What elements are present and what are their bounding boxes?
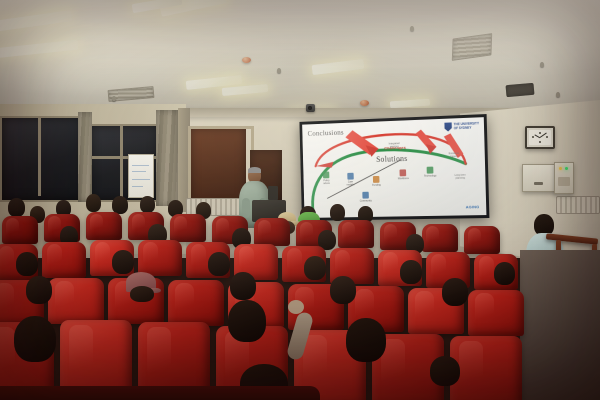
attendee-head (400, 260, 422, 284)
auditorium-seat[interactable] (422, 224, 458, 252)
attendee-head (304, 256, 326, 280)
mini-item-label: Technology (424, 174, 436, 177)
attendee-head (130, 286, 154, 302)
auditorium-seat[interactable] (86, 212, 122, 240)
projection-screen: Conclusions THE UNIVERSITY OF SYDNEY (299, 114, 489, 221)
slide-note: Long term planning (447, 173, 474, 180)
attendee-arm (286, 311, 315, 362)
status-led-green (565, 167, 568, 170)
aisle-floor (520, 250, 600, 400)
lecture-hall-scene: Conclusions THE UNIVERSITY OF SYDNEY (0, 0, 600, 400)
slide-mini-item: Workforce (398, 169, 409, 180)
attendee-head (26, 276, 52, 304)
slide-mini-item: Technology (424, 166, 437, 177)
red-arrow-left (316, 162, 334, 168)
whiteboard-line (132, 171, 146, 172)
ceiling-shading (0, 0, 600, 118)
mini-icon (400, 169, 407, 176)
auditorium-seat[interactable] (42, 242, 86, 278)
slide-note: Integrated services (380, 142, 408, 149)
ceiling-camera-icon (306, 104, 315, 112)
mini-icon (427, 167, 434, 174)
attendee-head (16, 252, 38, 276)
attendee-head (494, 262, 515, 285)
auditorium-seat[interactable] (168, 280, 224, 326)
wall-clock (525, 126, 555, 149)
electrical-control-panel (522, 164, 556, 192)
whiteboard-line (132, 179, 150, 180)
slide-mini-item: Funding (372, 176, 381, 187)
attendee-head (86, 194, 101, 212)
slide-mini-item: Policy reform (323, 171, 330, 185)
auditorium-seat[interactable] (468, 290, 524, 336)
window-mullion (38, 118, 41, 196)
attendee-red-cap (126, 272, 166, 306)
mini-item-label: Community (360, 199, 372, 202)
auditorium-seat[interactable] (450, 336, 522, 400)
auditorium-seat[interactable] (48, 278, 104, 324)
slide-arc-diagram (302, 117, 486, 218)
attendee-raising-hand (272, 300, 330, 360)
projected-slide: Conclusions THE UNIVERSITY OF SYDNEY (302, 117, 486, 218)
slide-solutions-label: Solutions (376, 154, 408, 164)
attendee-head (330, 276, 356, 304)
clock-tick (539, 132, 541, 134)
status-led-amber (559, 167, 562, 170)
presenter-hair (248, 167, 261, 173)
attendee-head (330, 204, 345, 221)
mini-item-label: Workforce (398, 177, 409, 180)
attendee-hand (288, 300, 304, 314)
equipment-box (268, 186, 278, 200)
whiteboard-line (132, 165, 149, 166)
slide-center-block: Solutions (376, 154, 408, 164)
attendee-head (140, 196, 155, 213)
mini-icon (347, 173, 354, 180)
ceiling (0, 0, 600, 118)
auditorium-seat[interactable] (0, 386, 320, 400)
clock-face (529, 130, 551, 145)
presenter-arm (242, 198, 250, 218)
mini-icon (362, 192, 369, 199)
slide-note: Evidence based (440, 152, 467, 159)
window (0, 116, 84, 202)
whiteboard (128, 154, 154, 198)
auditorium-seat[interactable] (254, 218, 290, 246)
clock-tick (546, 136, 548, 138)
mini-item-label: Policy reform (323, 179, 330, 185)
auditorium-seat[interactable] (464, 226, 500, 254)
attendee-head (442, 278, 468, 306)
clock-tick (532, 136, 534, 138)
attendee-head (430, 356, 460, 386)
mini-icon (323, 172, 329, 179)
slide-mini-item: Care models (346, 173, 354, 187)
window-curtain (156, 110, 178, 206)
attendee-head (8, 198, 25, 217)
window-curtain (78, 112, 92, 202)
slide-mini-item: Community (360, 192, 372, 203)
auditorium-seat[interactable] (338, 220, 374, 248)
slide-footer-logo: AGING (466, 204, 480, 209)
auditorium-seat[interactable] (2, 216, 38, 244)
attendee-head (230, 272, 256, 300)
whiteboard-line (132, 186, 143, 187)
attendee-head (112, 250, 134, 274)
clock-tick (539, 141, 541, 143)
auditorium-seat[interactable] (170, 214, 206, 242)
radiator (556, 196, 600, 214)
attendee-head (228, 300, 266, 342)
attendee-head (14, 316, 56, 362)
auditorium-seat[interactable] (138, 240, 182, 276)
control-panel-subunit (554, 162, 574, 194)
panel-grille (558, 177, 570, 186)
mini-item-label: Care models (347, 180, 355, 186)
attendee-head (346, 318, 386, 362)
window-mullion (120, 124, 123, 198)
mini-item-label: Funding (372, 184, 381, 187)
mini-icon (373, 176, 380, 183)
attendee-head (208, 252, 230, 276)
panel-label (534, 182, 543, 185)
